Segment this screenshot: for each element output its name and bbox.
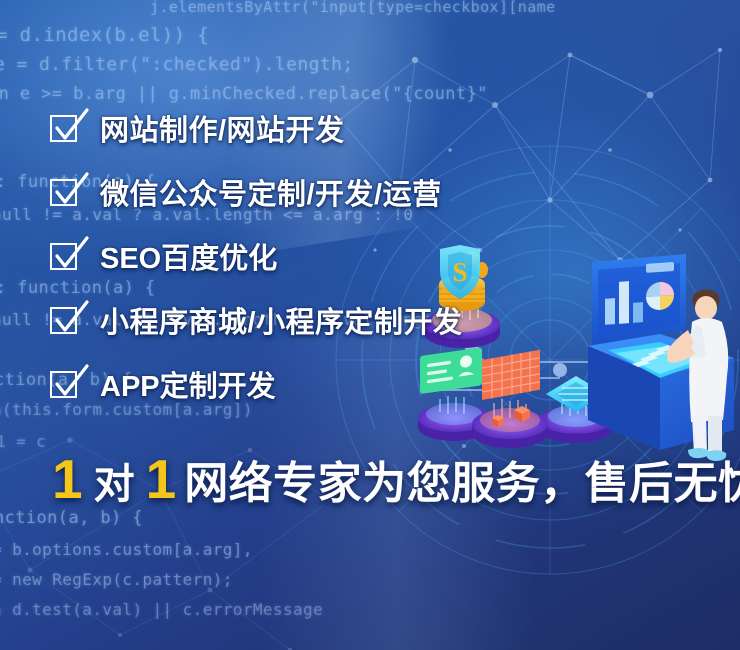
code-line: 1 = c (0, 432, 46, 451)
feature-item-seo[interactable]: SEO百度优化 (50, 228, 670, 284)
headline-slogan: 1 对 1 网络专家为您服务，售后无忧！ (50, 452, 740, 507)
code-line: nction(a, b) { (0, 508, 143, 528)
checkbox-checked-icon (50, 113, 80, 143)
feature-item-app[interactable]: APP定制开发 (50, 356, 670, 412)
feature-label: 网站制作/网站开发 (100, 107, 345, 149)
headline-number-first: 1 (50, 452, 85, 507)
feature-label: 小程序商城/小程序定制开发 (100, 299, 463, 341)
service-promo-banner: j.elementsByAttr("input[type=checkbox][n… (0, 0, 740, 650)
code-line: = new RegExp(c.pattern); (0, 570, 233, 589)
checkbox-checked-icon (50, 241, 80, 271)
feature-item-miniprogram[interactable]: 小程序商城/小程序定制开发 (50, 292, 670, 348)
headline-tail-text: 网络专家为您服务，售后无忧！ (184, 462, 740, 506)
feature-item-wechat[interactable]: 微信公众号定制/开发/运营 (50, 164, 670, 220)
code-line: = b.options.custom[a.arg], (0, 540, 253, 559)
feature-label: 微信公众号定制/开发/运营 (100, 171, 442, 213)
code-line: n d.test(a.val) || c.errorMessage (0, 600, 323, 619)
checkbox-checked-icon (50, 305, 80, 335)
headline-number-second: 1 (144, 452, 179, 507)
code-line: j.elementsByAttr("input[type=checkbox][n… (150, 0, 556, 16)
feature-item-website[interactable]: 网站制作/网站开发 (50, 100, 670, 156)
code-line: = d.index(b.el)) { (0, 24, 209, 46)
feature-label: APP定制开发 (100, 363, 276, 405)
code-line: e = d.filter(":checked").length; (0, 54, 354, 75)
person-at-dashboard (667, 290, 729, 462)
headline-middle-word: 对 (85, 464, 144, 505)
service-feature-list: 网站制作/网站开发 微信公众号定制/开发/运营 SEO百度优化 小程序商城/小程… (50, 100, 670, 420)
checkbox-checked-icon (50, 177, 80, 207)
feature-label: SEO百度优化 (100, 235, 277, 277)
checkbox-checked-icon (50, 369, 80, 399)
